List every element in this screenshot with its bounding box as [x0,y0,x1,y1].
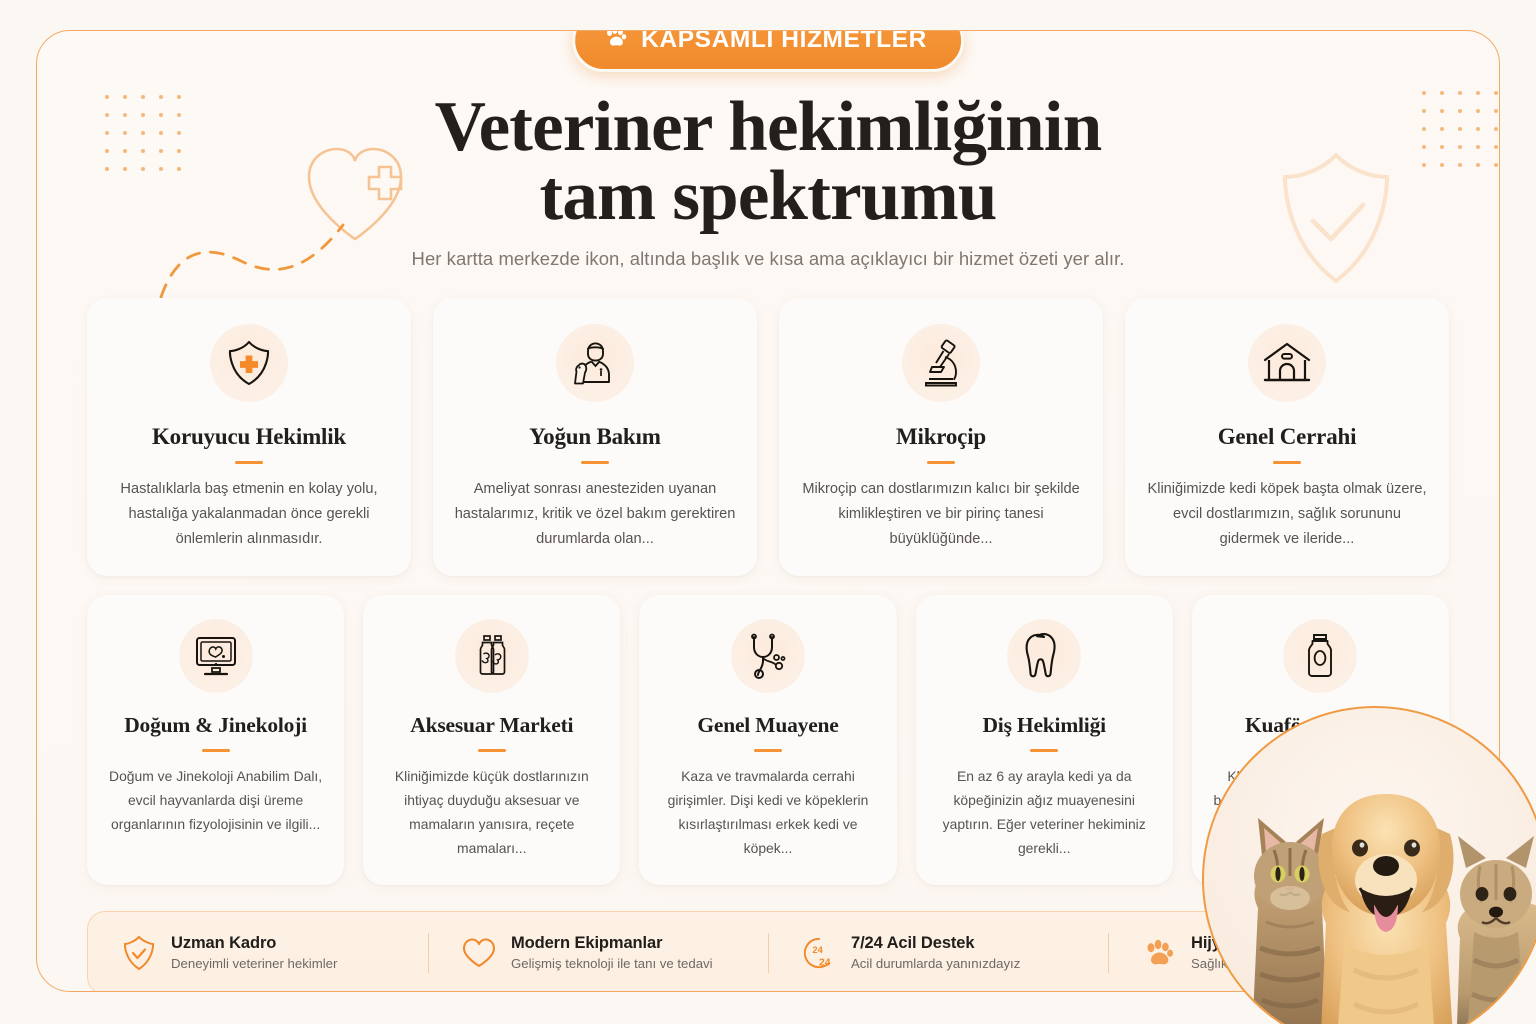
shield-check-icon [122,936,156,970]
service-card-description: Mikroçip can dostlarımızın kalıcı bir şe… [797,477,1085,552]
shampoo-bottle-icon [1283,619,1357,693]
ultrasound-monitor-icon [179,619,253,693]
service-card-description: Kaza ve travmalarda cerrahi girişimler. … [657,765,878,861]
paw-filled-icon [1142,936,1176,970]
svg-text:24: 24 [819,957,831,968]
title-divider [581,461,609,464]
service-card[interactable]: Genel Cerrahi Kliniğimizde kedi köpek ba… [1125,298,1449,576]
title-divider [202,749,230,752]
service-card-title: Yoğun Bakım [529,424,660,450]
title-divider [927,461,955,464]
service-card[interactable]: Diş Hekimliği En az 6 ay arayla kedi ya … [916,595,1173,885]
clock-24-icon: 24 24 [802,936,836,970]
feature-title: Modern Ekipmanlar [511,934,713,953]
page-title-line-2: tam spektrumu [37,162,1499,231]
title-divider [754,749,782,752]
heart-icon [462,936,496,970]
svg-text:24: 24 [812,945,823,956]
page-subtitle: Her kartta merkezde ikon, altında başlık… [37,248,1499,270]
service-card-title: Doğum & Jinekoloji [124,713,307,738]
feature-item[interactable]: 24 24 7/24 Acil Destek Acil durumlarda y… [768,934,1108,971]
section-badge-label: KAPSAMLI HİZMETLER [641,30,927,54]
service-card-description: En az 6 ay arayla kedi ya da köpeğinizin… [934,765,1155,861]
feature-subtitle: Deneyimli veteriner hekimler [171,956,337,971]
service-card-title: Diş Hekimliği [982,713,1105,738]
service-card-description: Hastalıklarla baş etmenin en kolay yolu,… [105,477,393,552]
service-card-description: Ameliyat sonrası anesteziden uyanan hast… [451,477,739,552]
vet-with-pet-icon [556,324,634,402]
service-card[interactable]: Aksesuar Marketi Kliniğimizde küçük dost… [363,595,620,885]
service-card[interactable]: Yoğun Bakım Ameliyat sonrası anesteziden… [433,298,757,576]
service-card-description: Kliniğimizde küçük dostlarınızın ihtiyaç… [381,765,602,861]
feature-title: 7/24 Acil Destek [851,934,1020,953]
feature-subtitle: Gelişmiş teknoloji ile tanı ve tedavi [511,956,713,971]
page-title: Veteriner hekimliğinin tam spektrumu [37,93,1499,231]
service-card-description: Kliniğimizde kedi köpek başta olmak üzer… [1143,477,1431,552]
feature-subtitle: Acil durumlarda yanınızdayız [851,956,1020,971]
service-card[interactable]: Genel Muayene Kaza ve travmalarda cerrah… [639,595,896,885]
service-card[interactable]: Mikroçip Mikroçip can dostlarımızın kalı… [779,298,1103,576]
title-divider [1030,749,1058,752]
stethoscope-icon [731,619,805,693]
title-divider [478,749,506,752]
service-card-title: Genel Cerrahi [1218,424,1357,450]
service-card-description: Doğum ve Jinekoloji Anabilim Dalı, evcil… [105,765,326,837]
service-card-title: Koruyucu Hekimlik [152,424,346,450]
service-card-title: Aksesuar Marketi [410,713,573,738]
section-badge[interactable]: KAPSAMLI HİZMETLER [572,30,964,72]
cat-and-dogs-photo [1202,706,1536,1024]
pet-bottles-icon [455,619,529,693]
microscope-icon [902,324,980,402]
shield-cross-icon [210,324,288,402]
service-card[interactable]: Doğum & Jinekoloji Doğum ve Jinekoloji A… [87,595,344,885]
page-title-line-1: Veteriner hekimliğinin [37,93,1499,162]
service-card[interactable]: Koruyucu Hekimlik Hastalıklarla baş etme… [87,298,411,576]
services-grid-row-1: Koruyucu Hekimlik Hastalıklarla baş etme… [37,298,1499,576]
feature-item[interactable]: Uzman Kadro Deneyimli veteriner hekimler [88,934,428,971]
paw-icon [603,30,628,55]
title-divider [235,461,263,464]
feature-item[interactable]: Modern Ekipmanlar Gelişmiş teknoloji ile… [428,934,768,971]
title-divider [1273,461,1301,464]
tooth-icon [1007,619,1081,693]
service-card-title: Mikroçip [896,424,986,450]
pet-house-icon [1248,324,1326,402]
service-card-title: Genel Muayene [697,713,838,738]
feature-title: Uzman Kadro [171,934,337,953]
